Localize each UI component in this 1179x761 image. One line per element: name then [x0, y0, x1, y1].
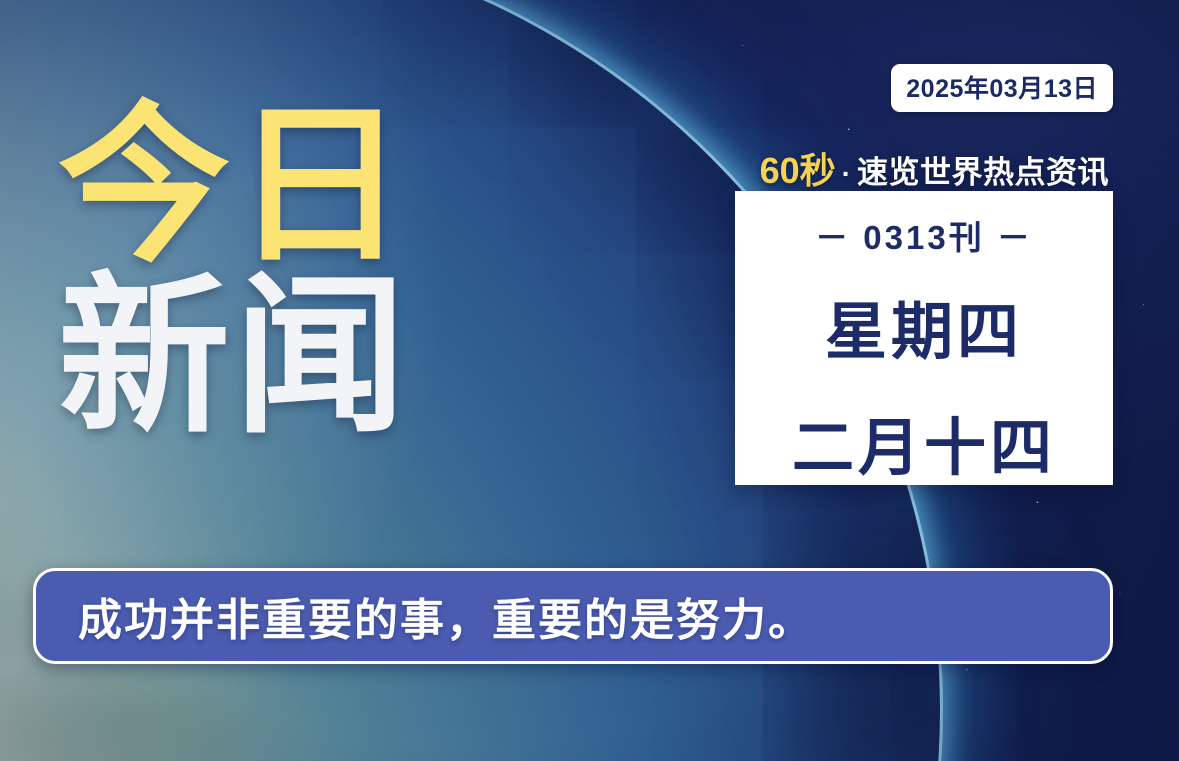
- tagline: 60秒 · 速览世界热点资讯: [760, 142, 1109, 194]
- date-badge: 2025年03月13日: [891, 64, 1113, 112]
- lunar-date-label: 二月十四: [792, 397, 1056, 487]
- quote-text: 成功并非重要的事，重要的是努力。: [36, 584, 814, 648]
- weekday-label: 星期四: [825, 281, 1023, 371]
- quote-banner: 成功并非重要的事，重要的是努力。: [33, 568, 1113, 664]
- headline-line-2: 新闻: [58, 275, 478, 440]
- issue-number: － 0313刊 －: [815, 211, 1033, 259]
- news-poster: 今日 新闻 2025年03月13日 60秒 · 速览世界热点资讯 － 0313刊…: [0, 0, 1179, 761]
- tagline-subtitle: 速览世界热点资讯: [857, 147, 1109, 192]
- poster-headline: 今日 新闻: [58, 104, 478, 440]
- tagline-seconds: 60秒: [760, 142, 836, 194]
- date-info-card: － 0313刊 － 星期四 二月十四: [735, 191, 1113, 485]
- tagline-separator-icon: ·: [840, 158, 853, 190]
- headline-line-1: 今日: [58, 104, 478, 269]
